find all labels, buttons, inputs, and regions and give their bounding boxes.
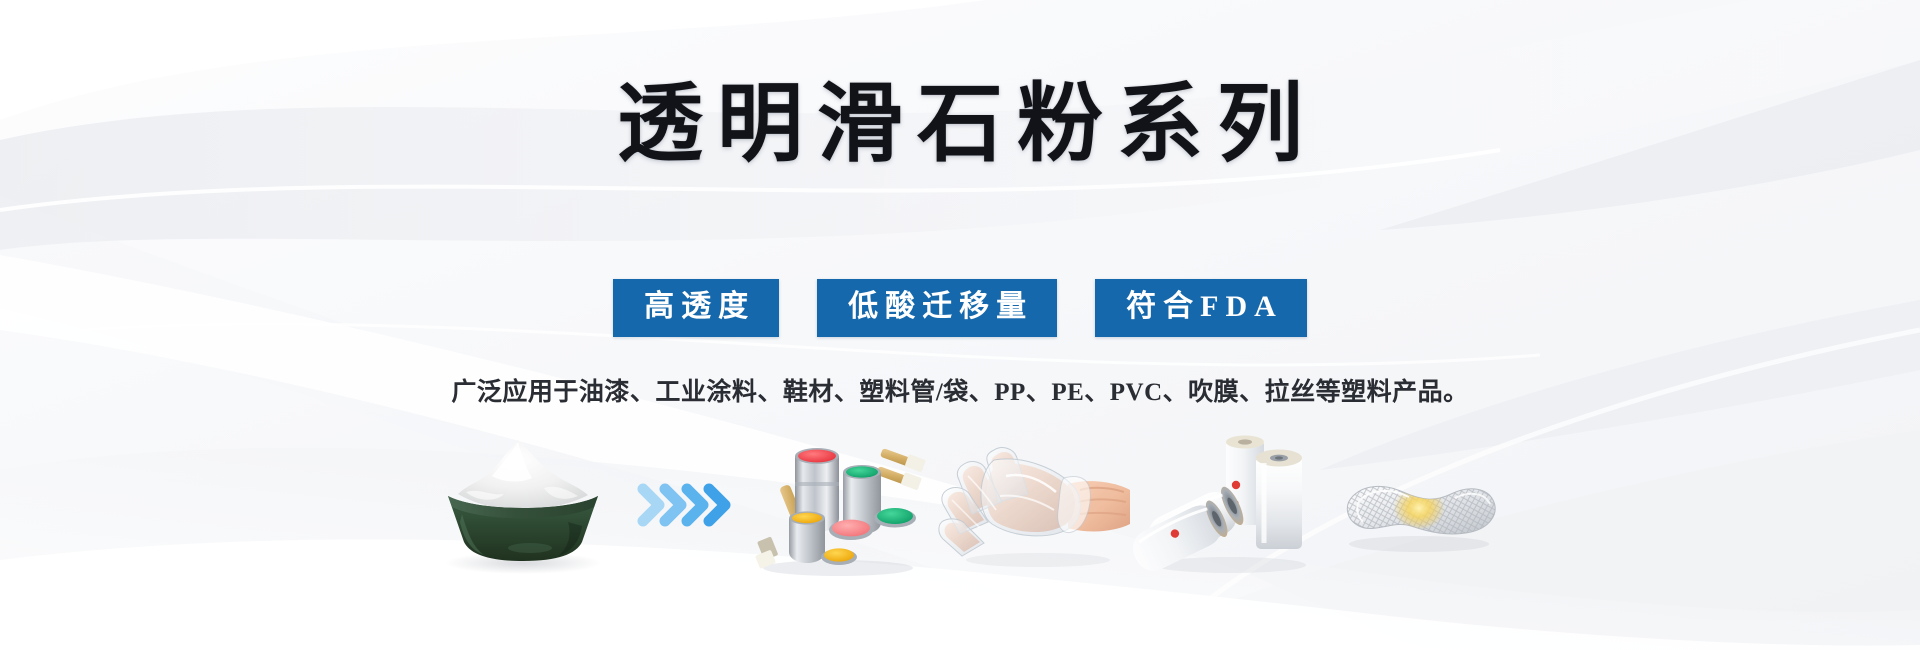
paint-can-yellow: [789, 511, 825, 563]
badge-high-transparency: 高透度: [613, 279, 779, 337]
application-description: 广泛应用于油漆、工业涂料、鞋材、塑料管/袋、PP、PE、PVC、吹膜、拉丝等塑料…: [0, 372, 1920, 408]
film-rolls-image: [1135, 430, 1320, 580]
plastic-glove-image: [935, 430, 1135, 580]
page-title: 透明滑石粉系列: [0, 78, 1920, 171]
banner-content: 透明滑石粉系列 高透度 低酸迁移量 符合FDA 广泛应用于油漆、工业涂料、鞋材、…: [0, 0, 1920, 650]
talc-powder-bowl-icon: [418, 430, 628, 580]
paint-cans-image: [740, 430, 935, 580]
film-roll-right: [1256, 450, 1302, 550]
plastic-glove-icon: [938, 440, 1133, 570]
process-arrows: [630, 430, 740, 580]
shoe-sole-icon: [1323, 440, 1503, 570]
paint-cans-icon: [743, 430, 933, 580]
film-rolls-icon: [1138, 435, 1318, 575]
product-banner: 透明滑石粉系列 高透度 低酸迁移量 符合FDA 广泛应用于油漆、工业涂料、鞋材、…: [0, 0, 1920, 650]
paint-lid-yellow: [821, 548, 857, 565]
chevron-right-icon: [635, 475, 735, 535]
badge-fda-compliant: 符合FDA: [1095, 279, 1307, 337]
feature-badges: 高透度 低酸迁移量 符合FDA: [0, 279, 1920, 337]
talc-powder-bowl-image: [415, 430, 630, 580]
product-image-strip: [0, 425, 1920, 585]
badge-low-acid-migration: 低酸迁移量: [817, 279, 1057, 337]
shoe-sole-image: [1320, 430, 1505, 580]
